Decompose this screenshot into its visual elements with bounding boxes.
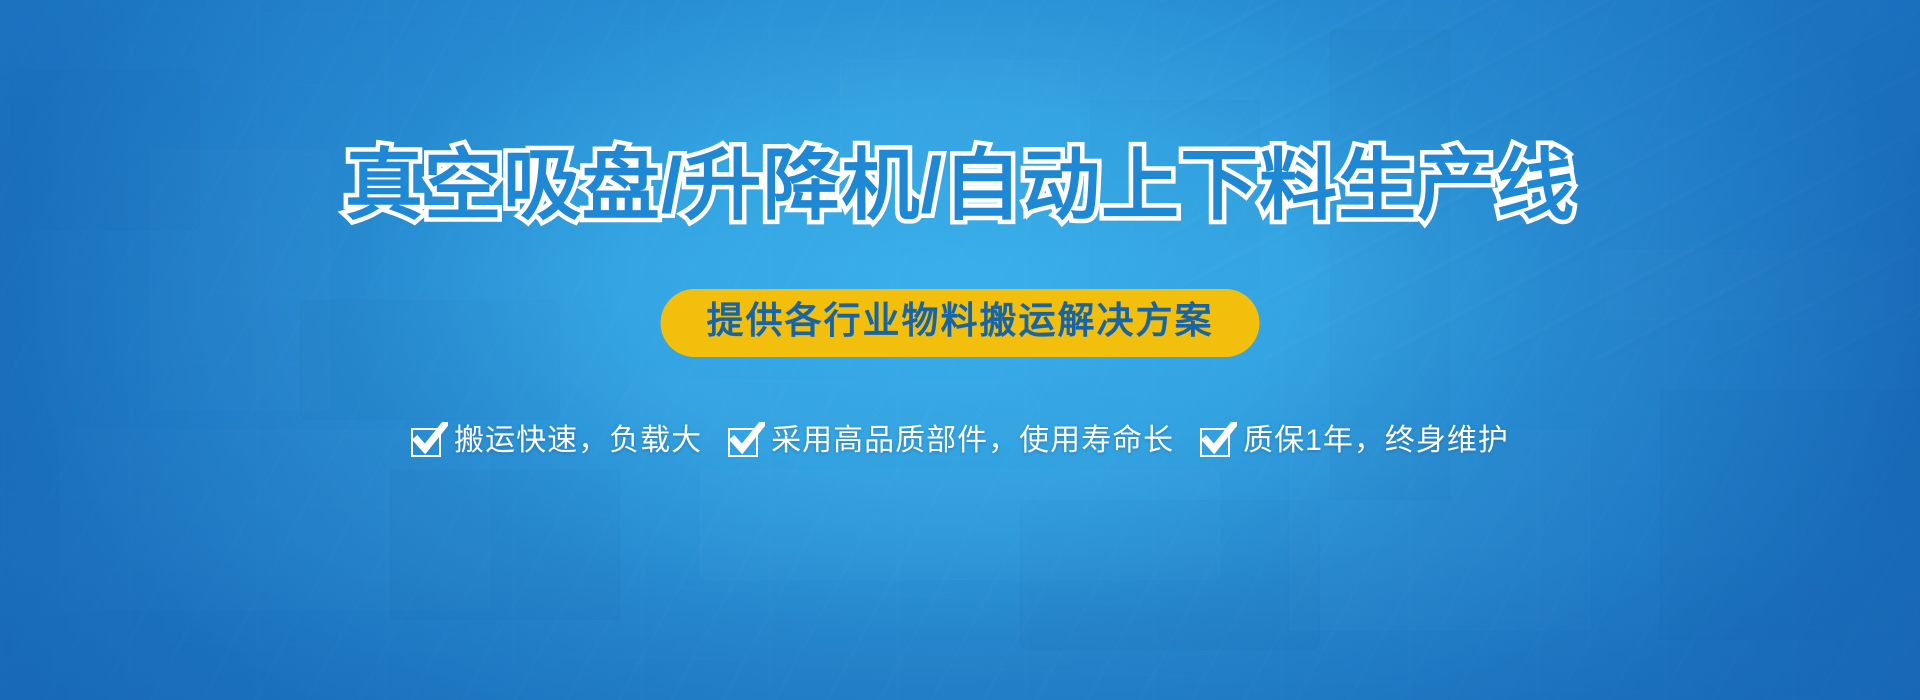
feature-label: 质保1年，终身维护 xyxy=(1243,426,1509,456)
feature-item-3: 质保1年，终身维护 xyxy=(1200,424,1509,458)
feature-item-1: 搬运快速，负载大 xyxy=(411,424,702,458)
banner-subtitle-badge: 提供各行业物料搬运解决方案 xyxy=(661,289,1260,357)
banner-headline: 真空吸盘/升降机/自动上下料生产线 xyxy=(0,146,1920,224)
feature-item-2: 采用高品质部件，使用寿命长 xyxy=(728,424,1174,458)
feature-label: 搬运快速，负载大 xyxy=(454,426,702,456)
feature-list: 搬运快速，负载大 采用高品质部件，使用寿命长 质保1 xyxy=(0,424,1920,458)
feature-label: 采用高品质部件，使用寿命长 xyxy=(771,426,1174,456)
check-square-icon xyxy=(1200,424,1234,458)
banner-content: 真空吸盘/升降机/自动上下料生产线 提供各行业物料搬运解决方案 搬运快速，负载大 xyxy=(0,0,1920,700)
check-square-icon xyxy=(728,424,762,458)
check-square-icon xyxy=(411,424,445,458)
promo-banner: 真空吸盘/升降机/自动上下料生产线 提供各行业物料搬运解决方案 搬运快速，负载大 xyxy=(0,0,1920,700)
